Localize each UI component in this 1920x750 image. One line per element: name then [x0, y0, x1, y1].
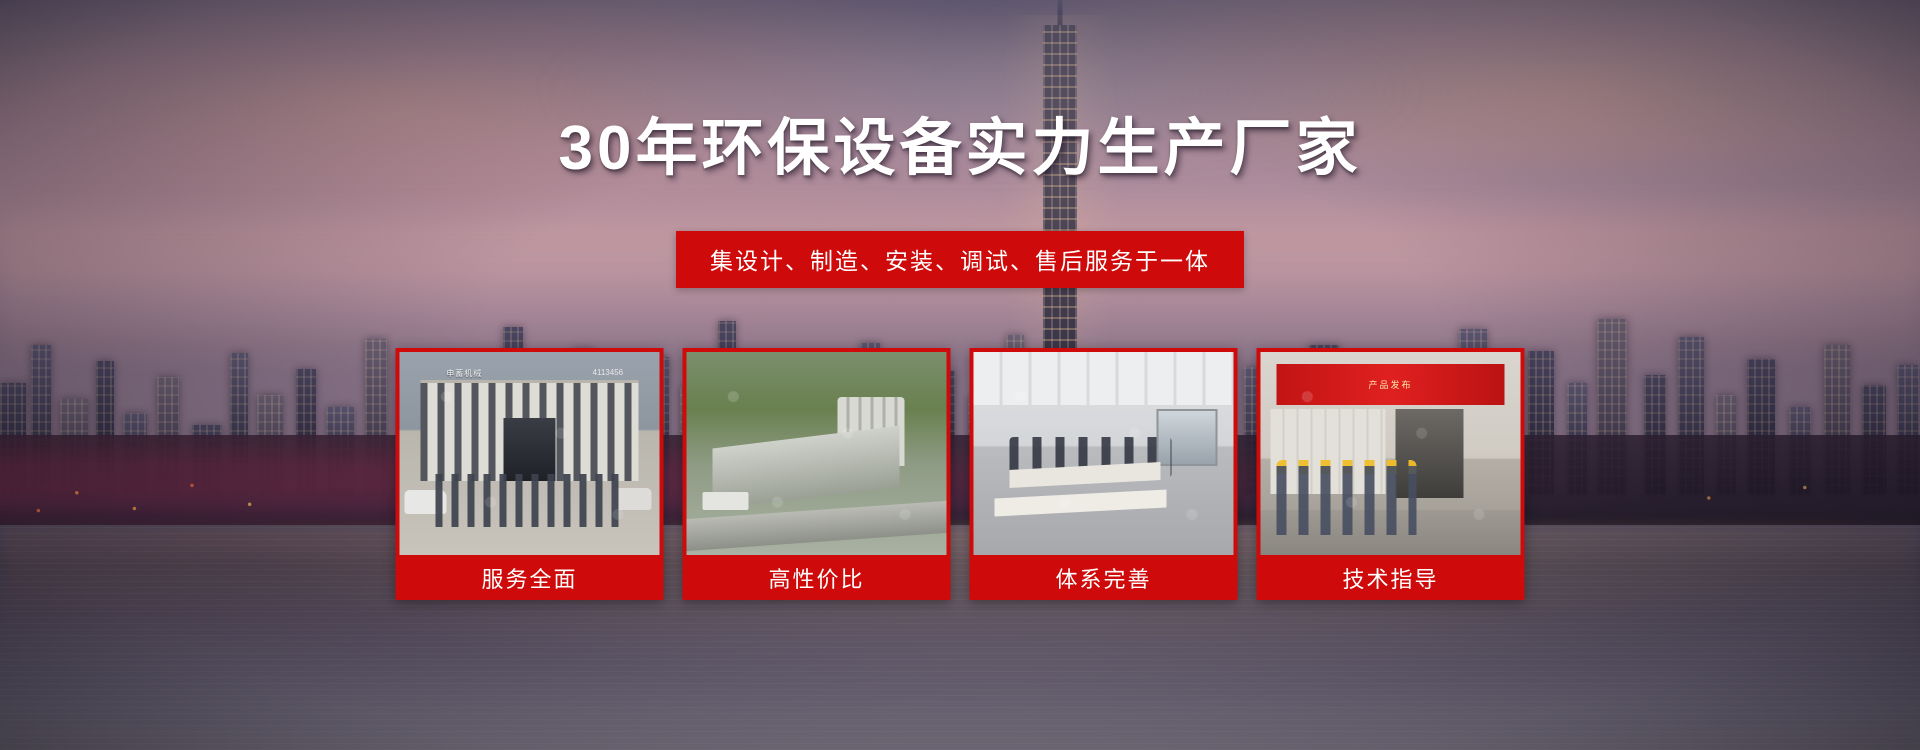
banner-subtitle-bar: 集设计、制造、安装、调试、售后服务于一体	[676, 231, 1244, 288]
workshop-wall-banner: 产品发布	[1276, 364, 1505, 405]
card-caption: 体系完善	[974, 555, 1234, 600]
card-caption: 技术指导	[1261, 555, 1521, 600]
building-facade	[420, 380, 638, 480]
card-photo-aerial-plant	[687, 352, 947, 555]
office-desk-row-2	[994, 490, 1166, 517]
card-photo-office-interior	[974, 352, 1234, 555]
hero-banner: 30年环保设备实力生产厂家 集设计、制造、安装、调试、售后服务于一体 申蓄机械 …	[0, 0, 1920, 750]
office-ceiling	[974, 352, 1234, 405]
feature-card[interactable]: 产品发布 技术指导	[1257, 348, 1525, 600]
card-caption: 高性价比	[687, 555, 947, 600]
staff-row	[436, 474, 623, 527]
feature-card[interactable]: 申蓄机械 4113456 服务全面	[396, 348, 664, 600]
plant-truck	[702, 492, 749, 510]
feature-card[interactable]: 高性价比	[683, 348, 951, 600]
card-caption: 服务全面	[400, 555, 660, 600]
building-sign-text: 申蓄机械	[446, 368, 482, 379]
building-phone-text: 4113456	[593, 368, 624, 377]
card-photo-office-building: 申蓄机械 4113456	[400, 352, 660, 555]
feature-card-list: 申蓄机械 4113456 服务全面 高性价比	[396, 348, 1525, 600]
workshop-crew	[1276, 466, 1416, 535]
feature-card[interactable]: 体系完善	[970, 348, 1238, 600]
card-photo-workshop: 产品发布	[1261, 352, 1521, 555]
banner-content: 30年环保设备实力生产厂家 集设计、制造、安装、调试、售后服务于一体 申蓄机械 …	[0, 0, 1920, 750]
banner-headline: 30年环保设备实力生产厂家	[0, 118, 1920, 180]
